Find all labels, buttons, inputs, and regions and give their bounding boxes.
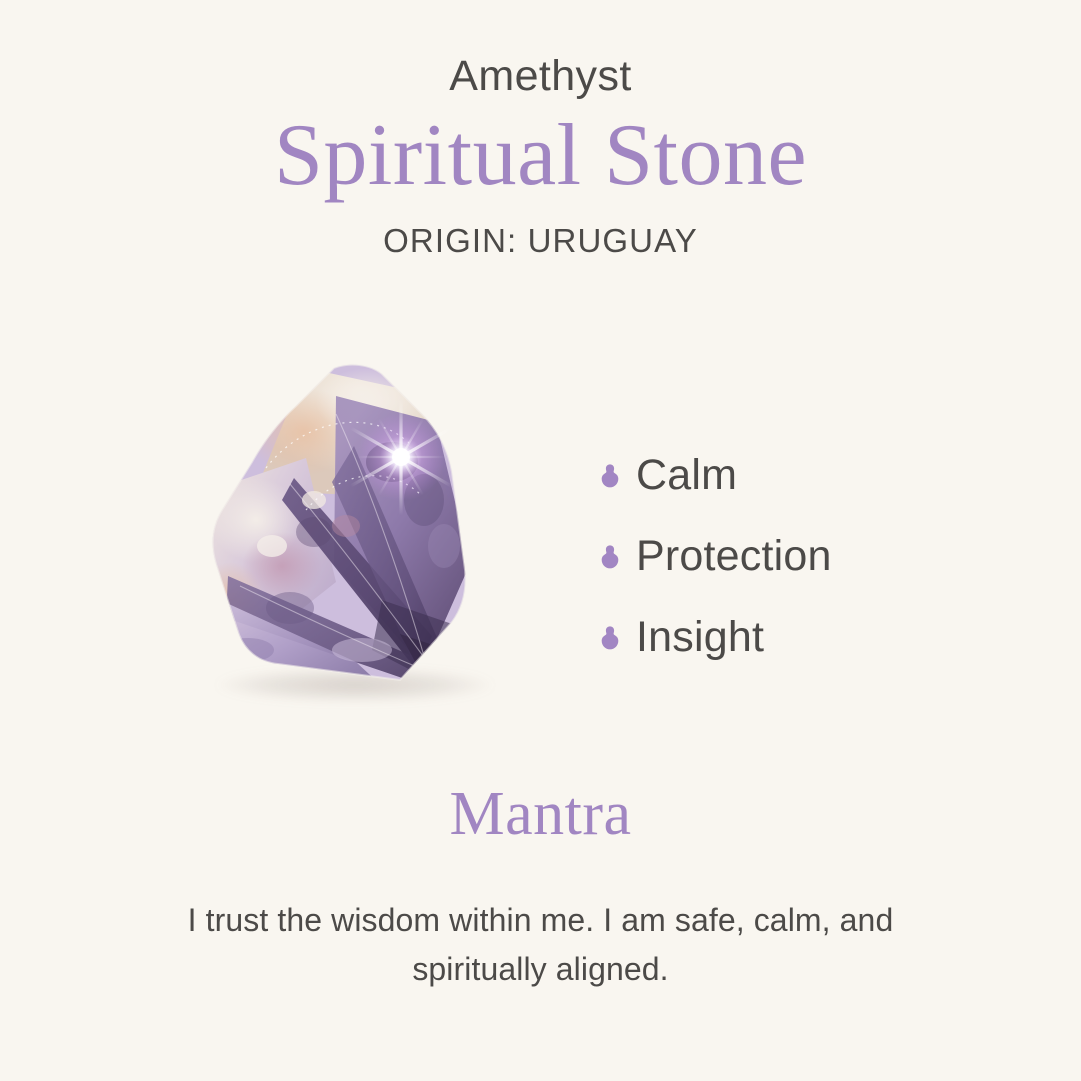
middle-section: Calm Protection Insight [0,340,1081,740]
mantra-text: I trust the wisdom within me. I am safe,… [181,896,901,993]
mantra-title: Mantra [0,780,1081,848]
page-title: Spiritual Stone [0,104,1081,208]
amethyst-crystal-illustration [186,350,516,720]
mantra-section: Mantra I trust the wisdom within me. I a… [0,780,1081,993]
amethyst-crystal-icon [186,350,516,720]
benefit-item: Insight [600,597,832,678]
benefit-label: Protection [636,535,832,578]
benefit-label: Insight [636,616,764,659]
stone-name-eyebrow: Amethyst [0,52,1081,100]
benefit-item: Calm [600,435,832,516]
benefit-label: Calm [636,454,737,497]
amethyst-crystal-card: Amethyst Spiritual Stone ORIGIN: URUGUAY [0,0,1081,1081]
origin-label: ORIGIN: URUGUAY [0,222,1081,260]
benefit-item: Protection [600,516,832,597]
gem-bullet-icon [600,625,620,651]
benefits-list: Calm Protection Insight [600,435,832,678]
header: Amethyst Spiritual Stone ORIGIN: URUGUAY [0,52,1081,260]
gem-bullet-icon [600,544,620,570]
gem-bullet-icon [600,463,620,489]
